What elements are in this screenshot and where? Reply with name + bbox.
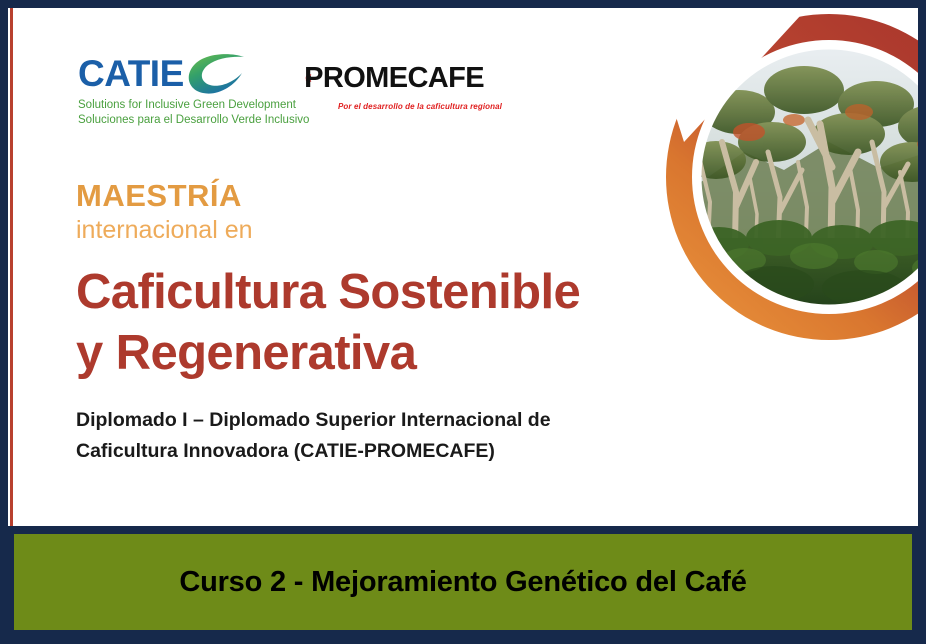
page-title-line1: Caficultura Sostenible bbox=[76, 262, 656, 323]
catie-leaf-swoosh-icon bbox=[184, 51, 246, 95]
page-title: Caficultura Sostenible y Regenerativa bbox=[76, 262, 656, 384]
promecafe-tagline: Por el desarrollo de la caficultura regi… bbox=[338, 102, 484, 111]
slide-canvas: CATIE bbox=[8, 8, 918, 526]
catie-tagline-es: Soluciones para el Desarrollo Verde Incl… bbox=[78, 113, 278, 128]
catie-logo: CATIE bbox=[78, 52, 278, 127]
promecafe-logo: PROMECAFE Por el desarrollo de la caficu… bbox=[304, 52, 484, 111]
page-subtitle-line2: Caficultura Innovadora (CATIE-PROMECAFE) bbox=[76, 436, 656, 467]
catie-tagline: Solutions for Inclusive Green Developmen… bbox=[78, 98, 278, 127]
course-title-bar: Curso 2 - Mejoramiento Genético del Café bbox=[14, 534, 912, 630]
page-subtitle: Diplomado I – Diplomado Superior Interna… bbox=[76, 405, 656, 467]
program-scope-label: internacional en bbox=[76, 215, 656, 246]
promecafe-wordmark: PROMECAFE bbox=[304, 64, 484, 93]
photo-circle-content bbox=[670, 47, 918, 312]
headline-block: MAESTRÍA internacional en Caficultura So… bbox=[76, 180, 656, 467]
catie-tagline-en: Solutions for Inclusive Green Developmen… bbox=[78, 98, 278, 113]
logo-row: CATIE bbox=[78, 52, 484, 127]
left-red-accent-rule bbox=[10, 8, 13, 526]
coffee-agroforestry-photo-circle bbox=[644, 8, 918, 402]
page-title-line2: y Regenerativa bbox=[76, 323, 656, 384]
program-level-label: MAESTRÍA bbox=[76, 180, 656, 213]
presentation-slide: CATIE bbox=[0, 0, 926, 644]
course-title-label: Curso 2 - Mejoramiento Genético del Café bbox=[179, 566, 746, 599]
catie-wordmark: CATIE bbox=[78, 55, 184, 92]
page-subtitle-line1: Diplomado I – Diplomado Superior Interna… bbox=[76, 405, 656, 436]
